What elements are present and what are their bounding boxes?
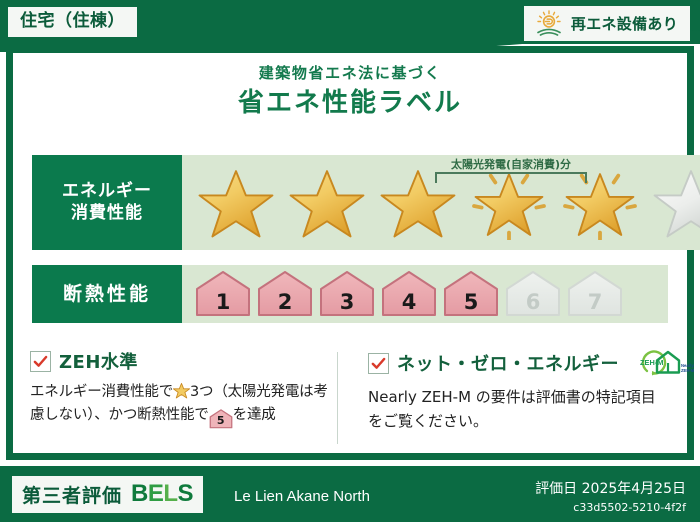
insulation-performance-row: 断熱性能 1 — [32, 265, 668, 323]
third-party-evaluation-label: 第三者評価 — [22, 481, 122, 508]
solar-annotation-bracket — [435, 172, 587, 183]
footer-band: 第三者評価 BELS Le Lien Akane North 評価日 2025年… — [0, 466, 700, 522]
zeh-criteria-heading-row: ZEH水準 — [30, 348, 336, 374]
energy-stars-area: 太陽光発電(自家消費)分 — [182, 155, 700, 250]
renewable-energy-sun-icon — [534, 10, 564, 36]
insulation-levels-area: 1 2 3 4 5 — [182, 265, 668, 323]
star-filled-1 — [192, 160, 280, 246]
insulation-tag-label: 断熱性能 — [63, 282, 151, 306]
insulation-level-6-number: 6 — [526, 292, 541, 318]
insulation-level-1: 1 — [194, 270, 252, 318]
energy-tag-line1: エネルギー — [62, 181, 152, 203]
inline-house-value: 5 — [209, 409, 233, 433]
insulation-level-scale: 1 2 3 4 5 — [182, 265, 624, 323]
bels-letter-s: S — [178, 480, 194, 507]
inline-house-badge: 5 — [209, 409, 233, 429]
zeh-criteria-text: エネルギー消費性能で3つ（太陽光発電は考慮しない）、かつ断熱性能で5を達成 — [30, 381, 336, 429]
netzero-criteria-heading: ネット・ゼロ・エネルギー — [397, 350, 619, 376]
insulation-level-7: 7 — [566, 270, 624, 318]
page-title: 省エネ性能ラベル — [0, 82, 700, 119]
check-icon — [368, 353, 389, 374]
insulation-level-2-number: 2 — [278, 292, 293, 318]
insulation-performance-tag: 断熱性能 — [32, 265, 182, 323]
zeh-text-part3: を達成 — [233, 407, 276, 423]
inline-star-icon — [173, 382, 190, 399]
insulation-level-3: 3 — [318, 270, 376, 318]
insulation-level-2: 2 — [256, 270, 314, 318]
solar-annotation-label: 太陽光発電(自家消費)分 — [426, 156, 596, 172]
energy-performance-tag: エネルギー 消費性能 — [32, 155, 182, 250]
netzero-criteria-heading-row: ネット・ゼロ・エネルギー ZEH-M Nearly ZEH-M — [368, 348, 656, 378]
zeh-star-count-text: 3つ（太陽光発電 — [190, 384, 299, 400]
bels-letter-b: B — [131, 480, 148, 507]
netzero-criteria-column: ネット・ゼロ・エネルギー ZEH-M Nearly ZEH-M Nearly Z… — [350, 348, 670, 448]
zeh-text-part1: エネルギー消費性能で — [30, 384, 173, 400]
bels-energy-label: 住宅（住棟） 再エネ設備あり — [0, 0, 700, 522]
label-subtitle: 建築物省エネ法に基づく — [0, 62, 700, 83]
insulation-level-1-number: 1 — [216, 292, 231, 318]
insulation-level-4-number: 4 — [402, 292, 417, 318]
star-filled-2 — [283, 160, 371, 246]
evaluation-info: 評価日 2025年4月25日 c33d5502-5210-4f2f — [535, 478, 686, 514]
renewable-energy-label: 再エネ設備あり — [571, 13, 678, 34]
insulation-level-6: 6 — [504, 270, 562, 318]
building-name: Le Lien Akane North — [234, 488, 370, 505]
criteria-columns: ZEH水準 エネルギー消費性能で3つ（太陽光発電は考慮しない）、かつ断熱性能で5… — [30, 348, 670, 448]
evaluation-id: c33d5502-5210-4f2f — [535, 501, 686, 514]
insulation-level-5: 5 — [442, 270, 500, 318]
zeh-m-logo-icon: ZEH-M Nearly ZEH-M — [627, 348, 695, 378]
netzero-criteria-text: Nearly ZEH-M の要件は評価書の特記項目をご覧ください。 — [368, 385, 656, 433]
star-empty-6 — [647, 160, 700, 246]
insulation-level-3-number: 3 — [340, 292, 355, 318]
insulation-level-4: 4 — [380, 270, 438, 318]
energy-performance-row: エネルギー 消費性能 太陽光発電(自家消費)分 — [32, 155, 668, 250]
energy-tag-line2: 消費性能 — [71, 203, 143, 225]
bels-letter-e: E — [148, 480, 164, 507]
evaluation-date: 評価日 2025年4月25日 — [535, 478, 686, 498]
renewable-energy-chip: 再エネ設備あり — [524, 6, 690, 41]
bels-letter-l: L — [163, 480, 177, 507]
svg-text:ZEH-M: ZEH-M — [640, 358, 663, 367]
check-icon — [30, 351, 51, 372]
bels-badge: 第三者評価 BELS — [12, 476, 203, 513]
zeh-criteria-column: ZEH水準 エネルギー消費性能で3つ（太陽光発電は考慮しない）、かつ断熱性能で5… — [30, 348, 350, 448]
building-type-label: 住宅（住棟） — [20, 11, 125, 32]
zeh-logo-sub2: ZEH-M — [681, 368, 695, 373]
insulation-level-5-number: 5 — [464, 292, 479, 318]
zeh-criteria-heading: ZEH水準 — [59, 348, 138, 374]
building-type-chip: 住宅（住棟） — [8, 7, 137, 37]
insulation-level-7-number: 7 — [588, 292, 603, 318]
bels-logo-text: BELS — [131, 480, 193, 508]
